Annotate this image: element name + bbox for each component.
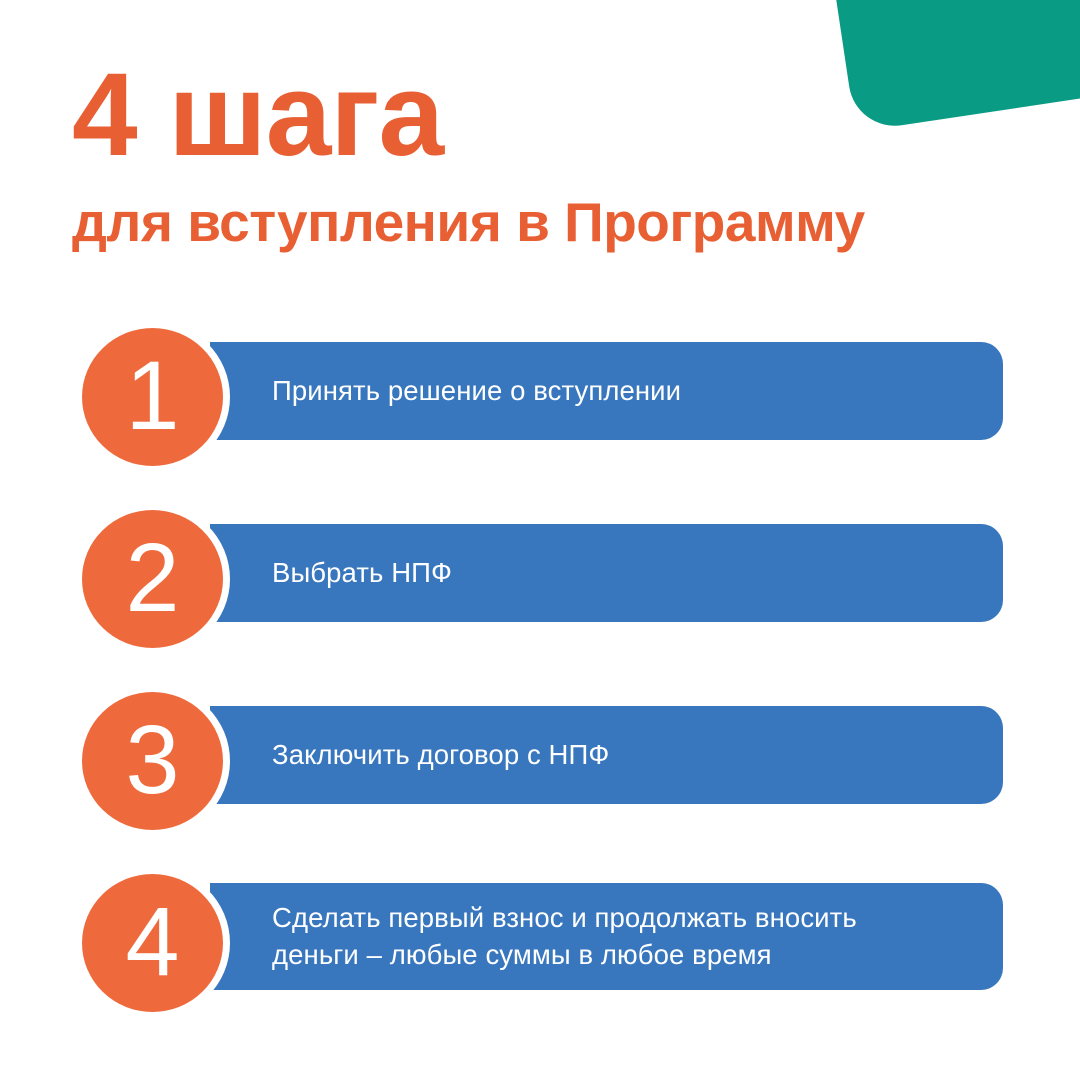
infographic-poster: 4 шага для вступления в Программу Принят… xyxy=(0,0,1080,1080)
page-subtitle: для вступления в Программу xyxy=(72,194,1012,252)
step-bar-4: Сделать первый взнос и продолжать вносит… xyxy=(210,883,1003,990)
list-item: Заключить договор с НПФ 3 xyxy=(0,692,1080,830)
list-item: Принять решение о вступлении 1 xyxy=(0,328,1080,466)
step-line: Принять решение о вступлении xyxy=(272,375,681,406)
step-line: Сделать первый взнос и продолжать вносит… xyxy=(272,902,857,933)
step-line: Выбрать НПФ xyxy=(272,557,452,588)
step-line: Заключить договор с НПФ xyxy=(272,739,609,770)
step-badge-2: 2 xyxy=(82,510,223,648)
step-label-3: Заключить договор с НПФ xyxy=(272,737,609,774)
list-item: Выбрать НПФ 2 xyxy=(0,510,1080,648)
title-block: 4 шага для вступления в Программу xyxy=(72,56,1012,252)
step-bar-1: Принять решение о вступлении xyxy=(210,342,1003,440)
step-number-3: 3 xyxy=(126,711,180,808)
step-label-2: Выбрать НПФ xyxy=(272,555,452,592)
step-number-2: 2 xyxy=(126,529,180,626)
step-badge-4: 4 xyxy=(82,874,223,1012)
step-label-4: Сделать первый взнос и продолжать вносит… xyxy=(272,900,857,973)
step-line: деньги – любые суммы в любое время xyxy=(272,939,772,970)
step-number-4: 4 xyxy=(126,893,180,990)
step-badge-3: 3 xyxy=(82,692,223,830)
list-item: Сделать первый взнос и продолжать вносит… xyxy=(0,874,1080,1014)
step-bar-3: Заключить договор с НПФ xyxy=(210,706,1003,804)
steps-list: Принять решение о вступлении 1 Выбрать Н… xyxy=(0,328,1080,1014)
step-number-1: 1 xyxy=(126,347,180,444)
step-label-1: Принять решение о вступлении xyxy=(272,373,681,410)
step-badge-1: 1 xyxy=(82,328,223,466)
page-title: 4 шага xyxy=(72,56,1012,174)
step-bar-2: Выбрать НПФ xyxy=(210,524,1003,622)
